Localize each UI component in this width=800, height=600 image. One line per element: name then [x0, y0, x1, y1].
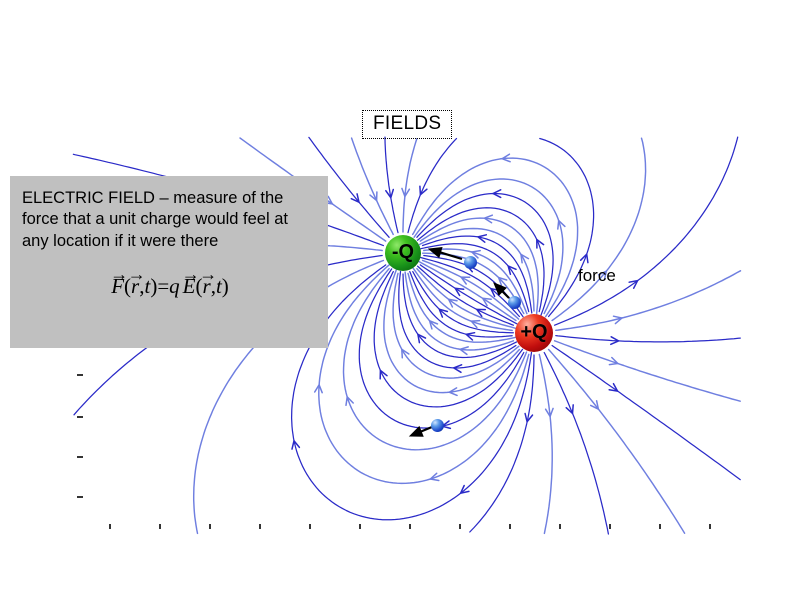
formula-r-left: →r [131, 274, 139, 299]
field-line [555, 341, 741, 401]
formula-E: →E [183, 274, 196, 299]
field-line [556, 336, 741, 342]
field-line [549, 350, 685, 534]
field-line [319, 265, 529, 484]
field-line [352, 138, 394, 234]
field-line [539, 354, 552, 533]
field-arrow-icon [460, 347, 468, 355]
field-arrow-icon [508, 266, 516, 274]
field-arrow-icon [402, 349, 409, 358]
slide-title: FIELDS [362, 110, 452, 139]
positive-charge-label: +Q [520, 321, 547, 344]
field-line [418, 208, 544, 312]
negative-charge-sphere: -Q [385, 235, 421, 271]
field-line [385, 137, 398, 233]
test-charge-3 [431, 419, 444, 432]
formula-F: →F [111, 274, 124, 299]
field-force-formula: →F(→r,t)=q→E(→r,t) [22, 274, 318, 299]
field-line [544, 353, 608, 535]
field-line [552, 346, 740, 480]
caption-text: ELECTRIC FIELD – measure of the force th… [22, 188, 318, 252]
force-label: force [578, 266, 616, 286]
field-line [403, 139, 417, 232]
formula-r-right: →r [203, 274, 211, 299]
negative-charge-label: -Q [392, 241, 414, 264]
slide-canvas: FIELDS ELECTRIC FIELD – measure of the f… [0, 0, 800, 600]
field-line [410, 272, 512, 337]
field-arrow-icon [609, 384, 617, 391]
electric-field-caption-box: ELECTRIC FIELD – measure of the force th… [10, 176, 328, 348]
positive-charge-sphere: +Q [515, 314, 553, 352]
force-arrow-head-icon [429, 248, 442, 258]
test-charge-2 [508, 296, 521, 309]
field-arrow-icon [483, 298, 492, 305]
test-charge-1 [464, 256, 477, 269]
field-line [540, 139, 594, 317]
field-arrow-icon [455, 288, 464, 295]
axis-ticks [77, 375, 710, 529]
field-line [470, 355, 534, 532]
